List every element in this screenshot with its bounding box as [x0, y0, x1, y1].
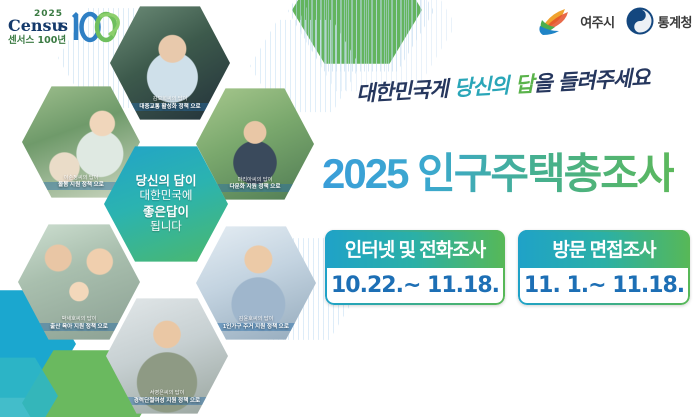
- headline-slogan: 대한민국게 당신의 답을 들려주세요: [355, 62, 650, 108]
- photo-caption: 서영은씨의 답이 경력단절여성 지원 정책 으로: [106, 390, 228, 405]
- korea-government-taegeuk-icon: [625, 6, 655, 36]
- headline-part-1: 대한민국게: [355, 77, 454, 106]
- photo-cell-career-interrupted-women: 서영은씨의 답이 경력단절여성 지원 정책 으로: [106, 296, 228, 416]
- info-box-date-range: 10.22.~ 11.18.: [325, 268, 505, 305]
- census-logo-svg: 2025 Censu s 센서스 100년: [6, 4, 124, 48]
- svg-text:s: s: [59, 16, 68, 35]
- page-title: 2025 인구주택총조사: [322, 140, 674, 201]
- headline-part-4: 을 들려주세요: [533, 66, 650, 96]
- info-box-internet-phone-survey: 인터넷 및 전화조사 10.22.~ 11.18.: [325, 230, 505, 305]
- background-decoration: [0, 0, 700, 417]
- statistics-korea-label: 통계청: [658, 12, 692, 31]
- bg-hex-teal-corner: [0, 356, 58, 417]
- logo-100-numeral: [73, 13, 118, 40]
- photo-caption: 김보희씨의 답이 대중교통 활성화 정책 으로: [110, 96, 230, 111]
- photo-cell-single-household: 김윤호씨의 답이 1인가구 주거 지원 정책 으로: [196, 224, 316, 342]
- photo-cell-public-transport: 김보희씨의 답이 대중교통 활성화 정책 으로: [110, 4, 230, 122]
- info-box-title: 방문 면접조사: [518, 230, 690, 268]
- info-box-visit-interview-survey: 방문 면접조사 11. 1.~ 11.18.: [518, 230, 690, 305]
- headline-part-3: 답: [514, 72, 534, 97]
- statistics-korea-logo: 통계청: [625, 6, 692, 36]
- message-line-1: 당신의 답이: [136, 173, 197, 189]
- census-100-logo: 2025 Censu s 센서스 100년: [6, 4, 124, 53]
- info-box-title: 인터넷 및 전화조사: [325, 230, 505, 268]
- message-line-4: 됩니다: [136, 220, 197, 235]
- svg-text:센서스 100년: 센서스 100년: [8, 34, 66, 46]
- bg-hex-ring-1: [288, 0, 434, 74]
- partner-logos: 여주시 통계청: [535, 6, 692, 36]
- yeoju-city-label: 여주시: [580, 12, 614, 31]
- yeoju-flame-icon: [535, 6, 577, 36]
- bg-hex-green-top: [292, 0, 422, 66]
- census-promo-banner: 김보희씨의 답이 대중교통 활성화 정책 으로 이순정씨의 답이 돌봄 지원 정…: [0, 0, 700, 417]
- yeoju-city-logo: 여주시: [535, 6, 614, 36]
- photo-cell-childbirth-parenting: 박세호씨의 답이 출산 육아 지원 정책 으로: [18, 222, 140, 342]
- message-line-2: 대한민국에: [136, 189, 197, 204]
- svg-text:Censu: Censu: [8, 16, 64, 35]
- photo-caption: 김윤호씨의 답이 1인가구 주거 지원 정책 으로: [196, 316, 316, 331]
- headline-part-2: 당신의: [453, 73, 516, 100]
- info-box-date-range: 11. 1.~ 11.18.: [518, 268, 690, 305]
- message-line-3: 좋은답이: [136, 204, 197, 220]
- center-message-text: 당신의 답이 대한민국에 좋은답이 됩니다: [136, 173, 197, 235]
